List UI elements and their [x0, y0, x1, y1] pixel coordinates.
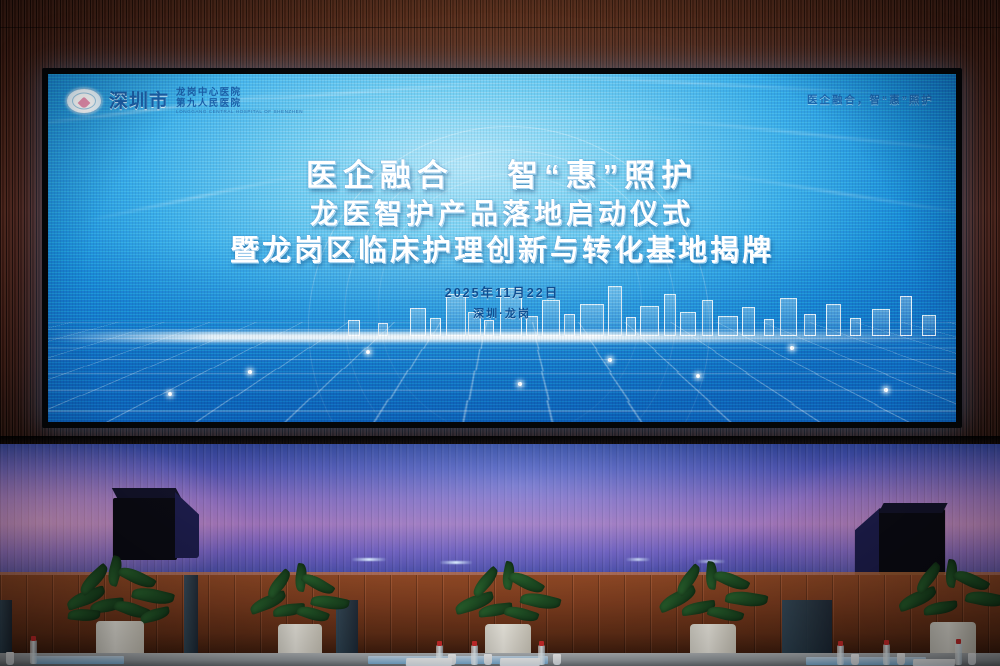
bottle-cap — [31, 636, 36, 641]
hospital-logo: 深圳市 龙岗中心医院 第九人民医院 LONGGANG CENTRAL HOSPI… — [66, 88, 303, 114]
water-bottle — [883, 644, 890, 665]
table-cloth-runner — [32, 656, 124, 664]
floor-light-strip — [440, 561, 472, 564]
screen-title-block: 医企融合 智“惠”照护 龙医智护产品落地启动仪式 暨龙岗区临床护理创新与转化基地… — [48, 160, 956, 321]
event-place: 深圳·龙岗 — [48, 305, 956, 321]
screen-meta-block: 2025年11月22日 深圳·龙岗 — [48, 282, 956, 321]
conference-stage-scene: 深圳市 龙岗中心医院 第九人民医院 LONGGANG CENTRAL HOSPI… — [0, 0, 1000, 666]
plant-foliage — [450, 570, 565, 628]
potted-plant — [895, 568, 1000, 666]
stage-recess — [0, 600, 12, 656]
screen-corner-slogan: 医企融合，智“惠”照护 — [807, 92, 934, 107]
title-line-1: 医企融合 智“惠”照护 — [48, 160, 956, 191]
water-bottle — [471, 645, 478, 665]
name-placard — [500, 658, 541, 666]
plant-foliage — [245, 572, 355, 628]
stage-side-curtain — [184, 575, 198, 653]
bottle-cap — [838, 641, 843, 646]
name-placard — [406, 658, 453, 666]
potted-plant — [245, 572, 355, 666]
plant-foliage — [895, 568, 1000, 626]
event-date: 2025年11月22日 — [48, 282, 956, 301]
bottle-cap — [472, 641, 477, 646]
floor-light-strip — [352, 558, 386, 561]
paper-cup — [553, 654, 561, 665]
potted-plant — [450, 570, 565, 666]
plant-foliage — [655, 570, 770, 628]
plant-foliage — [60, 565, 180, 625]
logo-city-name: 深圳市 — [109, 92, 169, 111]
title-line-1-part-a: 医企融合 — [306, 158, 454, 193]
paper-cup — [484, 654, 492, 665]
bottle-cap — [956, 639, 961, 644]
logo-hospital-names: 龙岗中心医院 第九人民医院 LONGGANG CENTRAL HOSPITAL … — [176, 88, 303, 114]
potted-plant — [60, 565, 180, 666]
floor-light-strip — [626, 558, 650, 561]
paper-cup — [897, 653, 905, 665]
bottle-cap — [884, 640, 889, 645]
title-line-2: 龙医智护产品落地启动仪式 — [48, 200, 956, 228]
name-placard — [913, 659, 955, 666]
title-line-3: 暨龙岗区临床护理创新与转化基地揭牌 — [48, 237, 956, 266]
paper-cup — [968, 653, 976, 665]
logo-english-name: LONGGANG CENTRAL HOSPITAL OF SHENZHEN — [176, 109, 303, 114]
hospital-emblem-icon — [66, 88, 102, 114]
logo-hospital-name-secondary: 第九人民医院 — [176, 99, 303, 110]
stage-recess — [782, 600, 832, 656]
water-bottle — [30, 640, 37, 664]
bottle-cap — [437, 641, 442, 646]
wall-seam — [0, 27, 1000, 28]
water-bottle — [837, 645, 844, 665]
table-cloth-runner — [806, 657, 926, 665]
paper-cup — [6, 652, 14, 665]
bottle-cap — [539, 641, 544, 646]
potted-plant — [655, 570, 770, 666]
stage-floor-monitor-speaker — [113, 488, 201, 560]
title-line-1-part-b: 智“惠”照护 — [507, 158, 698, 193]
water-bottle — [955, 643, 962, 665]
paper-cup — [851, 654, 859, 665]
led-screen: 深圳市 龙岗中心医院 第九人民医院 LONGGANG CENTRAL HOSPI… — [48, 74, 956, 422]
